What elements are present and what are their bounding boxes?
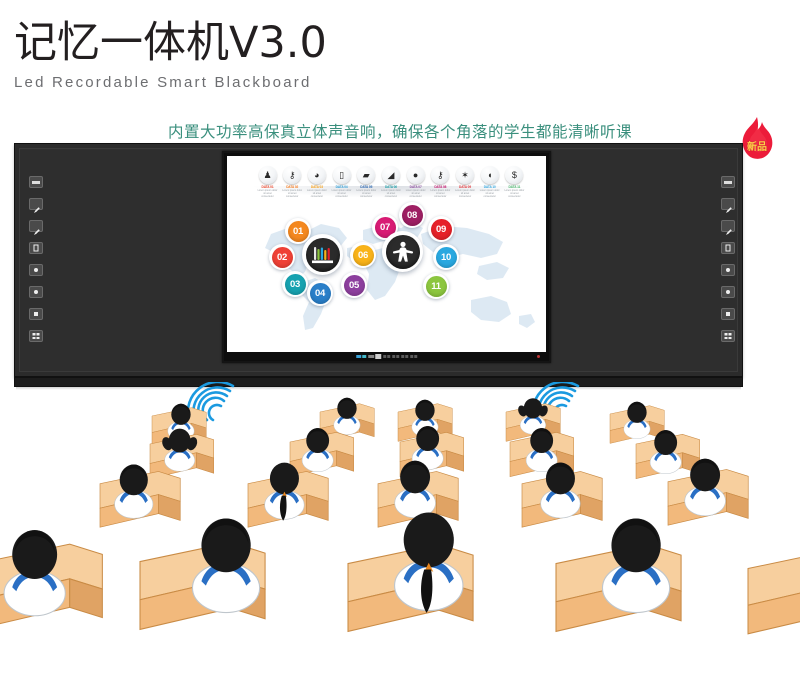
data-icon-column-2[interactable]: ⚷DATA 02Lorem ipsum dolor sit amet conse…: [282, 166, 303, 206]
display-screen[interactable]: ♟DATA 01Lorem ipsum dolor sit amet conse…: [227, 156, 546, 352]
header: 记忆一体机V3.0 Led Recordable Smart Blackboar…: [14, 18, 327, 91]
toolbar-button-7[interactable]: [29, 330, 43, 342]
bubble-number: 09: [431, 219, 452, 240]
data-icon-row[interactable]: ♟DATA 01Lorem ipsum dolor sit amet conse…: [257, 166, 525, 206]
data-icon-desc: Lorem ipsum dolor sit amet consectetur: [282, 190, 303, 199]
data-icon-desc: Lorem ipsum dolor sit amet consectetur: [405, 190, 426, 199]
bubble-02[interactable]: 02: [269, 244, 295, 270]
toolbar-button-2[interactable]: [29, 220, 43, 232]
bubble-number: 02: [272, 247, 293, 268]
bubble-05[interactable]: 05: [341, 272, 367, 298]
bubble-04[interactable]: 04: [307, 280, 333, 306]
briefcase-icon[interactable]: ▰: [357, 166, 375, 184]
infographic: ♟DATA 01Lorem ipsum dolor sit amet conse…: [227, 156, 546, 352]
toolbar-button-6[interactable]: [721, 308, 735, 320]
bubble-number: 11: [426, 276, 447, 297]
data-icon-column-8[interactable]: ⚷DATA 08Lorem ipsum dolor sit amet conse…: [430, 166, 451, 206]
record-dot-icon: [726, 290, 730, 294]
page-icon: [34, 245, 39, 252]
data-icon-desc: Lorem ipsum dolor sit amet consectetur: [504, 190, 525, 199]
data-icon-column-6[interactable]: ◢DATA 06Lorem ipsum dolor sit amet conse…: [380, 166, 401, 206]
chart-icon[interactable]: ◢: [382, 166, 400, 184]
page-icon: [726, 245, 731, 252]
data-icon-desc: Lorem ipsum dolor sit amet consectetur: [455, 190, 476, 199]
marker-icon: [33, 223, 41, 231]
person-badge: [386, 235, 420, 269]
data-icon-desc: Lorem ipsum dolor sit amet consectetur: [257, 190, 278, 199]
bulb-icon[interactable]: ●: [407, 166, 425, 184]
bubble-number: 03: [285, 274, 306, 295]
tagline-text: 内置大功率高保真立体声音响，确保各个角落的学生都能清晰听课: [0, 120, 800, 142]
bubble-06[interactable]: 06: [350, 242, 376, 268]
record-dot-icon: [34, 268, 38, 272]
grid-icon: [33, 333, 40, 339]
mobile-icon[interactable]: ▯: [333, 166, 351, 184]
bubble-08[interactable]: 08: [399, 202, 425, 228]
data-icon-column-5[interactable]: ▰DATA 05Lorem ipsum dolor sit amet conse…: [356, 166, 377, 206]
data-icon-desc: Lorem ipsum dolor sit amet consectetur: [306, 190, 327, 199]
bubble-number: 01: [288, 221, 309, 242]
bubble-number: 05: [344, 275, 365, 296]
data-icon-column-1[interactable]: ♟DATA 01Lorem ipsum dolor sit amet conse…: [257, 166, 278, 206]
bubble-number: 04: [310, 283, 331, 304]
bubble-09[interactable]: 09: [428, 216, 454, 242]
test-tubes-icon-circle[interactable]: [302, 234, 343, 275]
toolbar-button-0[interactable]: [721, 176, 735, 188]
bubble-number: 08: [402, 205, 423, 226]
shield-icon[interactable]: ◖: [481, 166, 499, 184]
data-icon-column-11[interactable]: $DATA 11Lorem ipsum dolor sit amet conse…: [504, 166, 525, 206]
toolbar-button-6[interactable]: [29, 308, 43, 320]
toolbar-button-1[interactable]: [721, 198, 735, 210]
record-dot-icon: [34, 290, 38, 294]
desk: [748, 550, 800, 634]
key-icon[interactable]: ⚷: [431, 166, 449, 184]
display-panel[interactable]: ♟DATA 01Lorem ipsum dolor sit amet conse…: [222, 151, 551, 363]
data-icon-desc: Lorem ipsum dolor sit amet consectetur: [430, 190, 451, 199]
data-icon-column-10[interactable]: ◖DATA 10Lorem ipsum dolor sit amet conse…: [479, 166, 500, 206]
screen-chin-bezel: [227, 352, 546, 361]
user-icon[interactable]: ♟: [259, 166, 277, 184]
data-icon-column-4[interactable]: ▯DATA 04Lorem ipsum dolor sit amet conse…: [331, 166, 352, 206]
person-icon-circle[interactable]: [382, 231, 423, 272]
data-icon-column-9[interactable]: ✶DATA 09Lorem ipsum dolor sit amet conse…: [455, 166, 476, 206]
toolbar-button-4[interactable]: [721, 264, 735, 276]
bubble-number: 10: [436, 247, 457, 268]
data-icon-column-7[interactable]: ●DATA 07Lorem ipsum dolor sit amet conse…: [405, 166, 426, 206]
pen-icon: [725, 201, 733, 209]
page-title: 记忆一体机V3.0: [14, 18, 327, 68]
classroom-scene: [0, 386, 800, 700]
toolbar-button-1[interactable]: [29, 198, 43, 210]
page-subtitle: Led Recordable Smart Blackboard: [14, 74, 327, 91]
blackboard-right-toolbar[interactable]: [721, 176, 737, 352]
toolbar-button-5[interactable]: [29, 286, 43, 298]
product-promo-page: 记忆一体机V3.0 Led Recordable Smart Blackboar…: [0, 0, 800, 700]
bubble-03[interactable]: 03: [282, 271, 308, 297]
marker-icon: [725, 223, 733, 231]
chin-indicator-lights: [356, 354, 418, 359]
classroom-illustration: [0, 386, 800, 700]
toolbar-button-3[interactable]: [721, 242, 735, 254]
new-product-badge: 新品: [737, 116, 777, 164]
toolbar-button-5[interactable]: [721, 286, 735, 298]
data-icon-desc: Lorem ipsum dolor sit amet consectetur: [479, 190, 500, 199]
bubble-10[interactable]: 10: [433, 244, 459, 270]
eraser-icon: [32, 181, 40, 184]
person-icon: [392, 241, 414, 263]
data-icon-column-3[interactable]: ◕DATA 03Lorem ipsum dolor sit amet conse…: [306, 166, 327, 206]
network-icon[interactable]: ✶: [456, 166, 474, 184]
record-dot-icon: [726, 268, 730, 272]
blackboard-left-toolbar[interactable]: [29, 176, 45, 352]
toolbar-button-4[interactable]: [29, 264, 43, 276]
toolbar-button-2[interactable]: [721, 220, 735, 232]
dollar-icon[interactable]: $: [505, 166, 523, 184]
stop-square-icon: [726, 312, 730, 316]
test-tubes-icon: [312, 245, 334, 265]
bicycle-icon[interactable]: ⚷: [283, 166, 301, 184]
data-icon-desc: Lorem ipsum dolor sit amet consectetur: [331, 190, 352, 199]
test-tubes-badge: [306, 238, 340, 272]
grid-icon: [725, 333, 732, 339]
bubble-11[interactable]: 11: [423, 273, 449, 299]
stop-square-icon: [34, 312, 38, 316]
pen-icon: [33, 201, 41, 209]
bubble-number: 06: [353, 245, 374, 266]
badge-label: 新品: [737, 138, 777, 153]
globe-icon[interactable]: ◕: [308, 166, 326, 184]
toolbar-button-0[interactable]: [29, 176, 43, 188]
toolbar-button-7[interactable]: [721, 330, 735, 342]
data-icon-desc: Lorem ipsum dolor sit amet consectetur: [356, 190, 377, 199]
toolbar-button-3[interactable]: [29, 242, 43, 254]
data-icon-desc: Lorem ipsum dolor sit amet consectetur: [380, 190, 401, 199]
eraser-icon: [724, 181, 732, 184]
power-led-icon: [537, 355, 540, 358]
